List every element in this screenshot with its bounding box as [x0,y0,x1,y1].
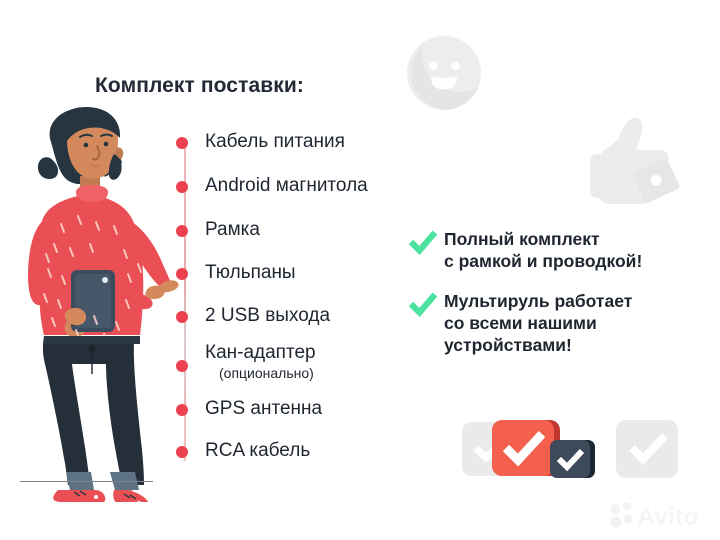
list-item: Кан-адаптер (опционально) [176,342,316,383]
list-item: Рамка [176,219,260,241]
list-item-label: Кан-адаптер (опционально) [205,342,316,383]
woman-pointing-illustration [6,104,181,502]
list-item-label: Рамка [205,219,260,241]
list-item-label: Android магнитола [205,175,368,197]
list-item: Android магнитола [176,175,368,197]
list-item: RCA кабель [176,440,310,462]
benefit-label: Полный комплект с рамкой и проводкой! [444,228,642,272]
list-item-label: Тюльпаны [205,262,296,284]
avito-watermark: Avito [608,498,708,532]
list-item: 2 USB выхода [176,305,330,327]
benefit-item: Мультируль работает со всеми нашими устр… [408,290,632,356]
check-icon [408,229,438,257]
promo-image-canvas: Комплект поставки: Кабель питания Androi… [0,0,720,540]
smiley-face-icon [406,35,482,111]
page-title: Комплект поставки: [95,74,304,98]
list-item: Тюльпаны [176,262,296,284]
benefit-item: Полный комплект с рамкой и проводкой! [408,228,642,272]
list-item-label: Кабель питания [205,131,345,153]
avito-wordmark: Avito [637,503,699,531]
list-item: GPS антенна [176,398,322,420]
benefit-label: Мультируль работает со всеми нашими устр… [444,290,632,356]
ground-line [20,481,153,482]
list-item-label-main: Кан-адаптер [205,342,316,363]
list-item: Кабель питания [176,131,345,153]
check-icon [408,291,438,319]
thumbs-up-icon [575,108,687,216]
list-item-label: RCA кабель [205,440,310,462]
list-item-label: 2 USB выхода [205,305,330,327]
checkbox-group-icon [460,412,680,492]
list-item-sublabel: (опционально) [219,364,316,383]
list-item-label: GPS антенна [205,398,322,420]
